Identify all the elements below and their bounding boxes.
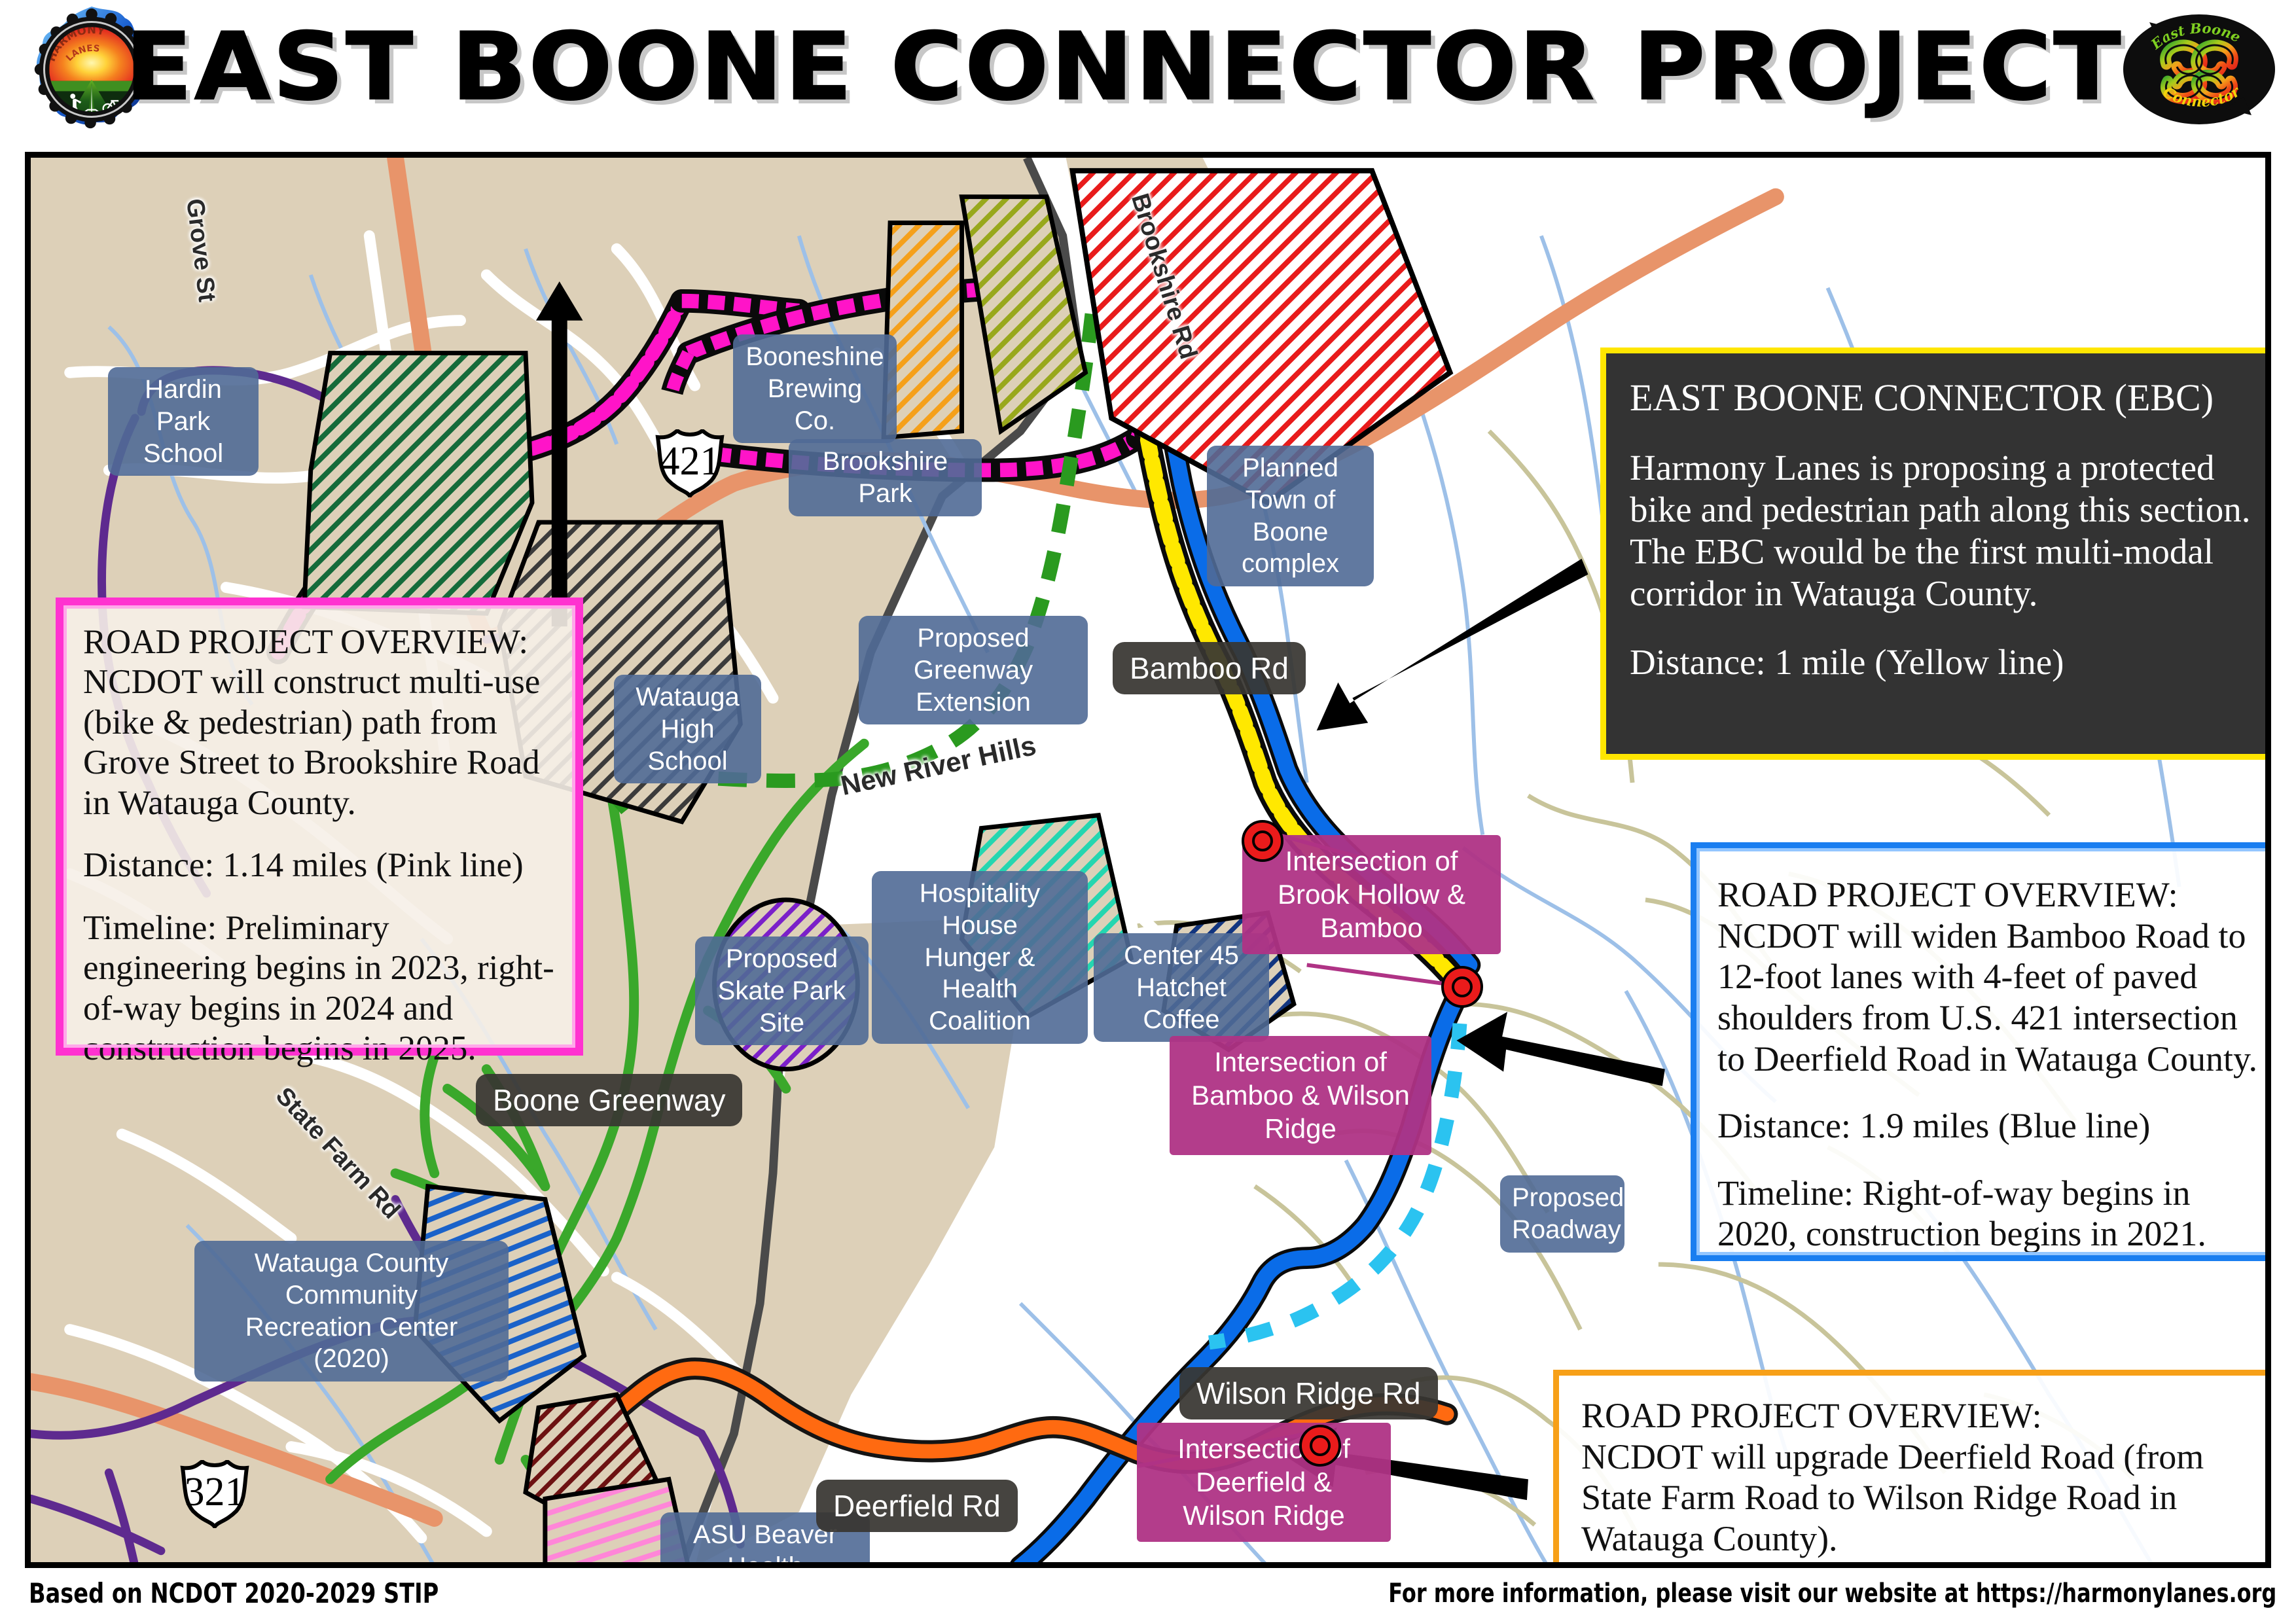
infobox-blue-bamboo-road[interactable]: ROAD PROJECT OVERVIEW: NCDOT will widen … [1691,842,2271,1261]
label-hardin-park-school[interactable]: Hardin Park School [108,367,259,476]
highway-shield-321: 321 [176,1460,253,1528]
label-planned-town-complex[interactable]: Planned Town of Boone complex [1207,446,1374,586]
pink-body: NCDOT will construct multi-use (bike & p… [83,662,556,823]
infobox-east-boone-connector[interactable]: EAST BOONE CONNECTOR (EBC) Harmony Lanes… [1600,348,2271,760]
label-watauga-county-rec-center[interactable]: Watauga County Community Recreation Cent… [194,1241,509,1382]
label-hospitality-house[interactable]: Hospitality House Hunger & Health Coalit… [872,871,1088,1044]
shield-number-321: 321 [176,1460,253,1528]
black-distance: Distance: 1 mile (Yellow line) [1630,641,2266,683]
label-watauga-high-school[interactable]: Watauga High School [614,675,761,783]
parcel-hardin-park-school [304,353,532,613]
map-area[interactable]: Grove St Brookshire Rd New River Hills S… [25,152,2271,1568]
intersection-dot-bamboo-wilson-ridge[interactable] [1441,966,1483,1008]
infobox-orange-deerfield-road[interactable]: ROAD PROJECT OVERVIEW: NCDOT will upgrad… [1553,1370,2271,1568]
road-label-boone-greenway[interactable]: Boone Greenway [476,1074,742,1126]
blue-timeline: Timeline: Right-of-way begins in 2020, c… [1717,1173,2271,1255]
page-header: HARMONY LANES EAST BOONE CONNECTOR PROJE… [0,0,2296,139]
label-intersection-deerfield-wilson-ridge[interactable]: Intersection of Deerfield & Wilson Ridge [1137,1423,1391,1542]
shield-number-421: 421 [651,429,728,497]
road-label-deerfield-rd[interactable]: Deerfield Rd [816,1480,1018,1532]
infobox-pink-multiuse-path[interactable]: ROAD PROJECT OVERVIEW: NCDOT will constr… [56,597,583,1056]
label-proposed-greenway-extension[interactable]: Proposed Greenway Extension [859,616,1088,724]
label-brookshire-park[interactable]: Brookshire Park [789,439,982,516]
page-title: EAST BOONE CONNECTOR PROJECT [125,12,2068,123]
footer-source-note: Based on NCDOT 2020-2029 STIP [29,1577,439,1609]
pink-distance: Distance: 1.14 miles (Pink line) [83,846,556,885]
blue-distance: Distance: 1.9 miles (Blue line) [1717,1105,2271,1147]
road-label-wilson-ridge-rd[interactable]: Wilson Ridge Rd [1179,1367,1438,1419]
east-boone-connector-logo: East Boone Connector [2121,4,2278,135]
label-proposed-roadway[interactable]: Proposed Roadway [1500,1175,1624,1253]
page-footer: Based on NCDOT 2020-2029 STIP For more i… [0,1571,2296,1623]
label-proposed-skate-park[interactable]: Proposed Skate Park Site [695,936,869,1045]
intersection-dot-brook-hollow-bamboo[interactable] [1242,820,1283,862]
blue-title: ROAD PROJECT OVERVIEW: [1717,874,2271,916]
intersection-dot-deerfield-wilson-ridge[interactable] [1299,1425,1341,1467]
footer-website-note: For more information, please visit our w… [1388,1578,2276,1609]
orange-title: ROAD PROJECT OVERVIEW: [1581,1395,2271,1436]
blue-body: NCDOT will widen Bamboo Road to 12-foot … [1717,916,2271,1080]
road-label-bamboo-rd[interactable]: Bamboo Rd [1113,642,1306,694]
label-intersection-bamboo-wilson-ridge[interactable]: Intersection of Bamboo & Wilson Ridge [1170,1036,1431,1155]
label-booneshine-brewing[interactable]: Booneshine Brewing Co. [733,334,897,443]
highway-shield-421: 421 [651,429,728,497]
black-title: EAST BOONE CONNECTOR (EBC) [1630,376,2266,419]
orange-body: NCDOT will upgrade Deerfield Road (from … [1581,1436,2271,1560]
pink-title: ROAD PROJECT OVERVIEW: [83,622,556,662]
black-body: Harmony Lanes is proposing a protected b… [1630,447,2266,614]
pink-timeline: Timeline: Preliminary engineering begins… [83,908,556,1069]
